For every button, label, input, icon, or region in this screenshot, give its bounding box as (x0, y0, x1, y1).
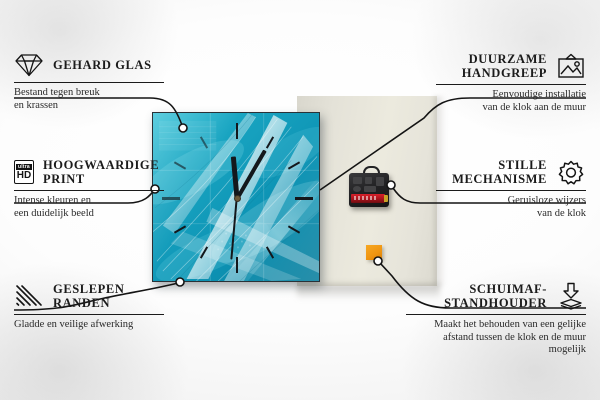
feature-stille-mechanisme: STILLE MECHANISME Geruisloze wijzers van… (436, 158, 586, 220)
feature-subtitle: Bestand tegen breuk en krassen (14, 87, 164, 112)
feature-rule (14, 314, 164, 315)
ultra-hd-badge-icon: ultra HD (14, 160, 34, 184)
feature-rule (14, 190, 164, 191)
feature-subtitle: Eenvoudige installatie van de klok aan d… (436, 89, 586, 114)
diamond-icon (14, 52, 44, 78)
feature-title: GESLEPEN RANDEN (53, 282, 164, 310)
feature-rule (436, 190, 586, 191)
infographic-stage: GEHARD GLAS Bestand tegen breuk en krass… (0, 0, 600, 400)
feature-geslepen-randen: GESLEPEN RANDEN Gladde en veilige afwerk… (14, 282, 164, 332)
foam-spacer-icon (556, 282, 586, 310)
feature-subtitle: Intense kleuren en een duidelijk beeld (14, 195, 164, 220)
feature-rule (436, 84, 586, 85)
feature-subtitle: Maakt het behouden van een gelijke afsta… (406, 319, 586, 357)
feature-title: STILLE MECHANISME (436, 158, 547, 186)
feature-rule (406, 314, 586, 315)
feature-title: HOOGWAARDIGE PRINT (43, 158, 164, 186)
feature-title: DUURZAME HANDGREEP (436, 52, 547, 80)
feature-rule (14, 82, 164, 83)
hd-badge-large-text: HD (17, 171, 31, 181)
feature-title: GEHARD GLAS (53, 58, 152, 72)
feature-schuimafstandhouder: SCHUIMAF-STANDHOUDER Maakt het behouden … (406, 282, 586, 357)
feature-hoogwaardige-print: ultra HD HOOGWAARDIGE PRINT Intense kleu… (14, 158, 164, 220)
feature-duurzame-handgreep: DUURZAME HANDGREEP Eenvoudige installati… (436, 52, 586, 114)
feature-subtitle: Geruisloze wijzers van de klok (436, 195, 586, 220)
feature-subtitle: Gladde en veilige afwerking (14, 319, 164, 332)
feature-title: SCHUIMAF-STANDHOUDER (406, 282, 547, 310)
picture-frame-icon (556, 53, 586, 79)
beveled-edges-icon (14, 283, 44, 309)
gear-icon (556, 159, 586, 185)
feature-gehard-glas: GEHARD GLAS Bestand tegen breuk en krass… (14, 52, 164, 112)
hd-badge-small-text: ultra (16, 164, 32, 170)
